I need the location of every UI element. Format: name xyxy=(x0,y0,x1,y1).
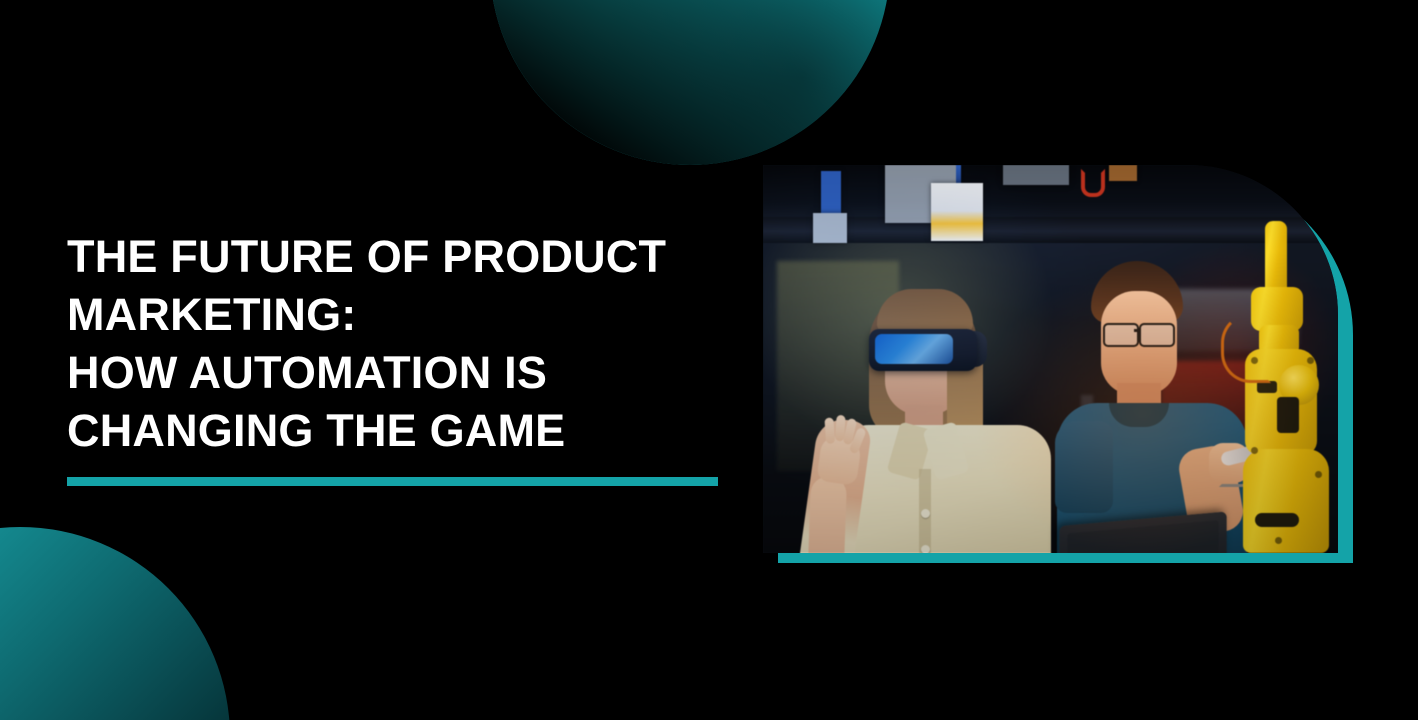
top-right-circle-decoration xyxy=(490,0,890,165)
headline-line-2: MARKETING: xyxy=(67,286,747,344)
vr-headset-icon xyxy=(869,329,977,371)
hero-photo xyxy=(763,165,1338,553)
robot-base-segment xyxy=(1243,449,1329,553)
bottom-left-circle-decoration xyxy=(0,527,230,720)
hook-icon xyxy=(1081,169,1105,197)
headline-line-3: HOW AUTOMATION IS xyxy=(67,344,747,402)
woman-hair-front xyxy=(877,289,973,333)
safety-glasses-icon xyxy=(1103,323,1139,347)
robot-bolt xyxy=(1251,447,1258,454)
hanging-tag-icon xyxy=(821,171,841,215)
hero-photo-card xyxy=(763,165,1338,553)
hanging-tag-icon xyxy=(1003,165,1069,185)
robot-bolt xyxy=(1275,537,1282,544)
robot-dark-panel xyxy=(1277,397,1299,433)
yellow-robot-arm xyxy=(1229,221,1338,553)
woman-with-vr-headset xyxy=(797,273,1047,553)
hanging-label-card xyxy=(931,183,983,241)
man-sleeve xyxy=(1055,421,1113,513)
robot-upper-segment xyxy=(1265,221,1287,295)
vr-headset-lens xyxy=(875,334,953,364)
woman-forearm xyxy=(807,476,847,553)
headline-line-1: THE FUTURE OF PRODUCT xyxy=(67,228,747,286)
finger xyxy=(824,417,835,444)
robot-bolt xyxy=(1307,357,1314,364)
headline-line-4: CHANGING THE GAME xyxy=(67,402,747,460)
safety-glasses-bridge xyxy=(1134,329,1141,332)
hanging-tag-icon xyxy=(813,213,847,243)
shirt-button xyxy=(921,509,930,518)
blog-banner: THE FUTURE OF PRODUCT MARKETING: HOW AUT… xyxy=(0,0,1418,720)
page-title: THE FUTURE OF PRODUCT MARKETING: HOW AUT… xyxy=(67,228,747,460)
robot-dark-panel xyxy=(1255,513,1299,527)
robot-bolt xyxy=(1315,471,1322,478)
safety-glasses-icon xyxy=(1139,323,1175,347)
hanging-tag-icon xyxy=(1109,165,1137,181)
shirt-button xyxy=(921,545,930,553)
tablet-screen xyxy=(1067,520,1218,553)
woman-hand xyxy=(816,435,862,486)
robot-cable xyxy=(1221,313,1271,383)
title-underline-rule xyxy=(67,477,718,486)
